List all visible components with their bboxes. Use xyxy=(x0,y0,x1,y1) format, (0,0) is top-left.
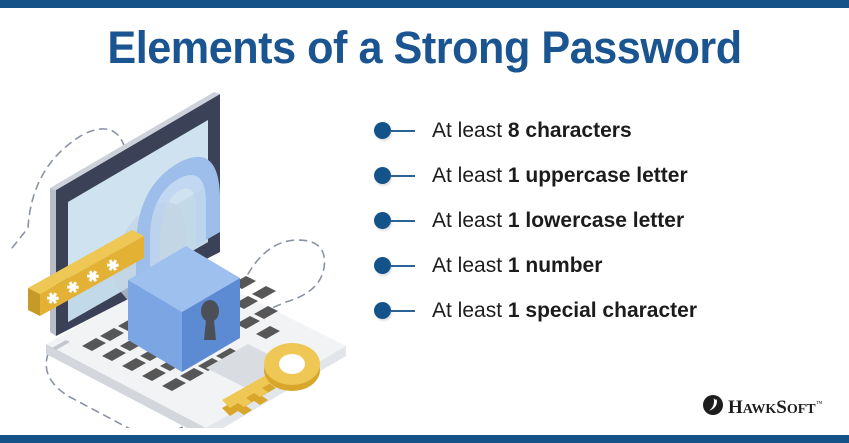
wordmark-s: S xyxy=(776,397,787,418)
list-item: At least 8 characters xyxy=(374,108,834,153)
wordmark-oft: OFT xyxy=(787,402,816,417)
bullet-connector-line xyxy=(391,265,415,267)
list-item: At least 1 special character xyxy=(374,288,834,333)
infographic-canvas: Elements of a Strong Password xyxy=(0,0,849,443)
requirement-lead: At least xyxy=(432,119,508,142)
requirement-value: 1 uppercase letter xyxy=(508,164,688,187)
page-title: Elements of a Strong Password xyxy=(17,22,832,74)
requirement-text: At least 1 number xyxy=(432,254,602,278)
bullet-dot-icon xyxy=(374,302,391,319)
hawksoft-wordmark: HAWKSOFT™ xyxy=(728,398,822,417)
hawk-emblem-icon xyxy=(702,394,724,421)
bullet-dot-icon xyxy=(374,122,391,139)
requirement-value: 1 special character xyxy=(508,299,697,322)
requirement-text: At least 1 special character xyxy=(432,299,697,323)
trademark-symbol: ™ xyxy=(816,400,823,408)
list-item: At least 1 number xyxy=(374,243,834,288)
bullet-dot-icon xyxy=(374,257,391,274)
bullet-connector-line xyxy=(391,175,415,177)
top-accent-bar xyxy=(0,0,849,8)
password-requirements-list: At least 8 characters At least 1 upperca… xyxy=(374,108,834,333)
hawksoft-logo: HAWKSOFT™ xyxy=(702,394,822,421)
bullet-connector-line xyxy=(391,310,415,312)
requirement-value: 1 lowercase letter xyxy=(508,209,684,232)
requirement-text: At least 1 uppercase letter xyxy=(432,164,688,188)
requirement-lead: At least xyxy=(432,164,508,187)
bullet-dot-icon xyxy=(374,212,391,229)
illustration-isometric-laptop: ✱ ✱ ✱ ✱ xyxy=(10,78,370,428)
requirement-text: At least 8 characters xyxy=(432,119,632,143)
wordmark-awk: AWK xyxy=(743,402,776,417)
requirement-text: At least 1 lowercase letter xyxy=(432,209,684,233)
requirement-lead: At least xyxy=(432,209,508,232)
requirement-lead: At least xyxy=(432,254,508,277)
requirement-lead: At least xyxy=(432,299,508,322)
requirement-value: 1 number xyxy=(508,254,603,277)
bottom-accent-bar xyxy=(0,435,849,443)
bullet-connector-line xyxy=(391,130,415,132)
bullet-dot-icon xyxy=(374,167,391,184)
list-item: At least 1 uppercase letter xyxy=(374,153,834,198)
wordmark-h: H xyxy=(728,397,743,418)
bullet-connector-line xyxy=(391,220,415,222)
list-item: At least 1 lowercase letter xyxy=(374,198,834,243)
requirement-value: 8 characters xyxy=(508,119,632,142)
